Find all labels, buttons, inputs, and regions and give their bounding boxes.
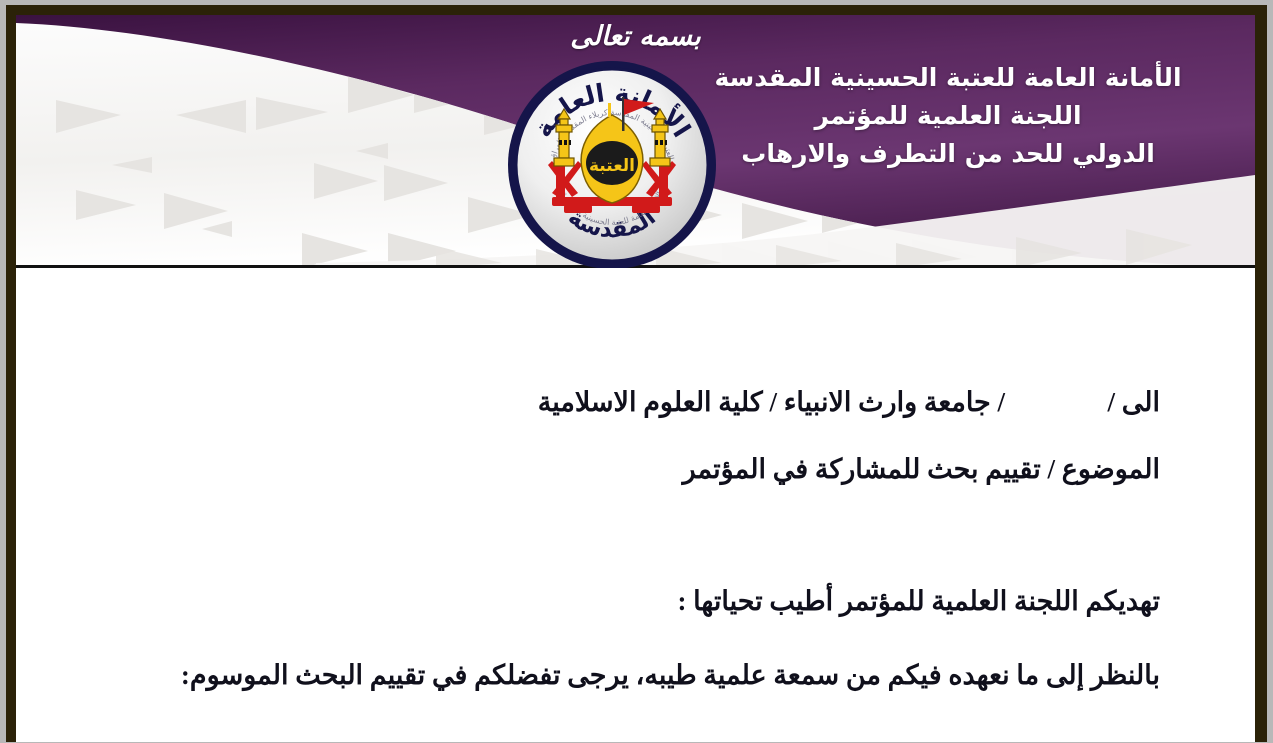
letterhead-titles: الأمانة العامة للعتبة الحسينية المقدسة ا… <box>663 59 1233 173</box>
letterhead-title-line-3: الدولي للحد من التطرف والارهاب <box>663 135 1233 173</box>
recipient-value: / جامعة وارث الانبياء / كلية العلوم الاس… <box>538 387 1005 418</box>
page-border: بسمه تعالى <box>6 5 1267 742</box>
emblem-center-text: العتبة <box>589 156 635 176</box>
letter-body: الى / / جامعة وارث الانبياء / كلية العلو… <box>16 268 1255 742</box>
letterhead-banner: بسمه تعالى <box>16 15 1255 268</box>
greeting-line: تهديكم اللجنة العلمية للمؤتمر أطيب تحيات… <box>677 586 1160 617</box>
letterhead-title-line-2: اللجنة العلمية للمؤتمر <box>663 97 1233 135</box>
subject-line: الموضوع / تقييم بحث للمشاركة في المؤتمر <box>683 454 1160 485</box>
recipient-label: الى / <box>1108 387 1160 418</box>
letterhead-title-line-1: الأمانة العامة للعتبة الحسينية المقدسة <box>663 59 1233 97</box>
body-paragraph: بالنظر إلى ما نعهده فيكم من سمعة علمية ط… <box>111 652 1160 698</box>
document-page: بسمه تعالى <box>16 15 1255 742</box>
